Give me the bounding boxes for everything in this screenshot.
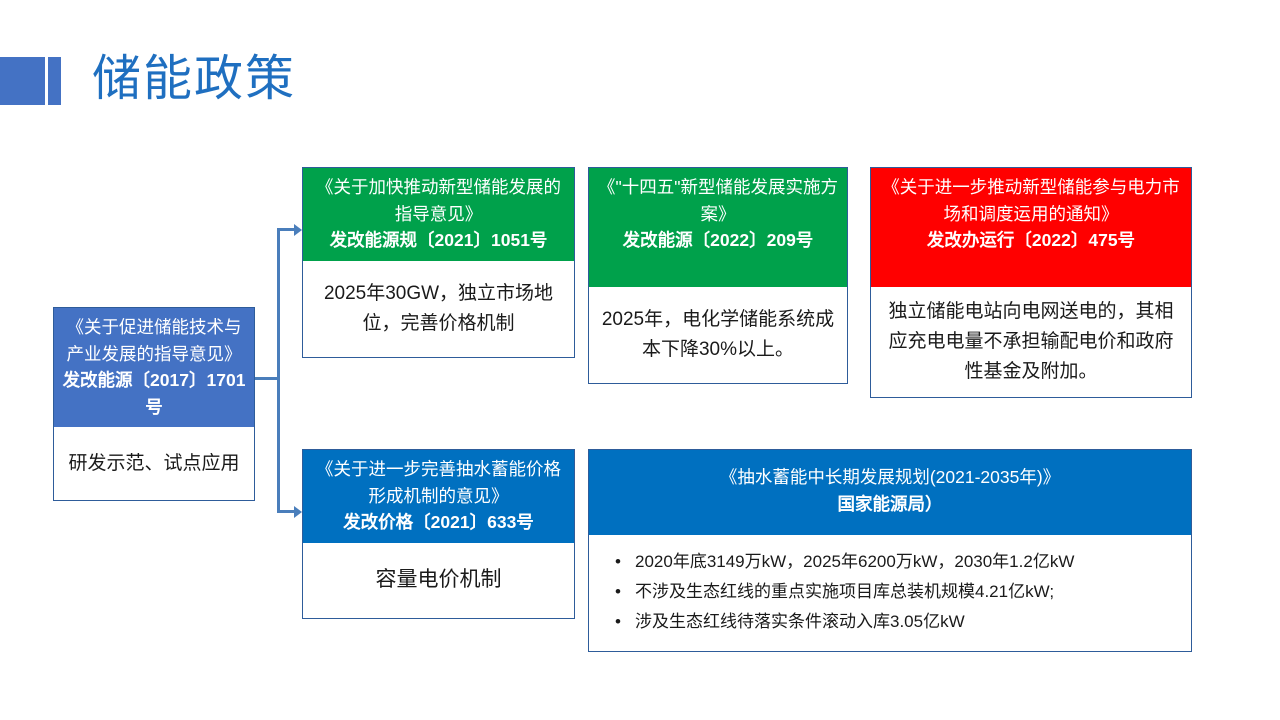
card-policy-5-doc-no: 国家能源局） <box>597 491 1183 518</box>
card-policy-3-body-text: 独立储能电站向电网送电的，其相应充电电量不承担输配电价和政府性基金及附加。 <box>881 297 1181 387</box>
card-policy-4-title: 《关于进一步完善抽水蓄能价格形成机制的意见》 <box>311 456 566 509</box>
page-title: 储能政策 <box>92 48 296 110</box>
card-policy-2-body-text: 2025年，电化学储能系统成本下降30%以上。 <box>599 305 837 365</box>
card-policy-4-doc-no: 发改价格〔2021〕633号 <box>311 509 566 536</box>
card-root-body-text: 研发示范、试点应用 <box>68 449 239 478</box>
card-policy-4-header: 《关于进一步完善抽水蓄能价格形成机制的意见》 发改价格〔2021〕633号 <box>302 449 575 543</box>
connector-vertical-trunk <box>277 228 280 513</box>
card-policy-2-doc-no: 发改能源〔2022〕209号 <box>597 227 839 254</box>
slide-canvas: 储能政策 《关于促进储能技术与产业发展的指导意见》 发改能源〔2017〕1701… <box>0 0 1280 720</box>
card-root-body: 研发示范、试点应用 <box>53 427 255 501</box>
list-item: 2020年底3149万kW，2025年6200万kW，2030年1.2亿kW <box>635 547 1173 577</box>
card-root-doc-no: 发改能源〔2017〕1701号 <box>62 367 246 420</box>
card-policy-4: 《关于进一步完善抽水蓄能价格形成机制的意见》 发改价格〔2021〕633号 容量… <box>302 449 575 619</box>
card-policy-1-title: 《关于加快推动新型储能发展的指导意见》 <box>311 174 566 227</box>
card-policy-3-doc-no: 发改办运行〔2022〕475号 <box>879 227 1183 254</box>
card-policy-2-body: 2025年，电化学储能系统成本下降30%以上。 <box>588 287 848 384</box>
card-policy-4-body-text: 容量电价机制 <box>376 565 502 595</box>
list-item: 涉及生态红线待落实条件滚动入库3.05亿kW <box>635 607 1173 637</box>
list-item: 不涉及生态红线的重点实施项目库总装机规模4.21亿kW; <box>635 577 1173 607</box>
card-policy-3-title: 《关于进一步推动新型储能参与电力市场和调度运用的通知》 <box>879 174 1183 227</box>
title-accent-bar-thin <box>48 57 61 105</box>
title-accent-bar-wide <box>0 57 45 105</box>
card-policy-5-bullet-list: 2020年底3149万kW，2025年6200万kW，2030年1.2亿kW 不… <box>615 547 1173 637</box>
card-policy-1-body-text: 2025年30GW，独立市场地位，完善价格机制 <box>313 279 564 339</box>
card-root-title: 《关于促进储能技术与产业发展的指导意见》 <box>62 314 246 367</box>
card-policy-3-header: 《关于进一步推动新型储能参与电力市场和调度运用的通知》 发改办运行〔2022〕4… <box>870 167 1192 287</box>
card-policy-1: 《关于加快推动新型储能发展的指导意见》 发改能源规〔2021〕1051号 202… <box>302 167 575 358</box>
card-policy-1-doc-no: 发改能源规〔2021〕1051号 <box>311 227 566 254</box>
card-policy-1-body: 2025年30GW，独立市场地位，完善价格机制 <box>302 261 575 358</box>
card-root-policy: 《关于促进储能技术与产业发展的指导意见》 发改能源〔2017〕1701号 研发示… <box>53 307 255 501</box>
arrow-head-top-icon <box>294 224 302 236</box>
card-policy-3: 《关于进一步推动新型储能参与电力市场和调度运用的通知》 发改办运行〔2022〕4… <box>870 167 1192 398</box>
card-policy-2-header: 《"十四五"新型储能发展实施方案》 发改能源〔2022〕209号 <box>588 167 848 287</box>
card-policy-5-title: 《抽水蓄能中长期发展规划(2021-2035年)》 <box>597 464 1183 491</box>
card-policy-5-body: 2020年底3149万kW，2025年6200万kW，2030年1.2亿kW 不… <box>588 535 1192 652</box>
card-policy-2: 《"十四五"新型储能发展实施方案》 发改能源〔2022〕209号 2025年，电… <box>588 167 848 384</box>
arrow-head-bottom-icon <box>294 506 302 518</box>
card-policy-1-header: 《关于加快推动新型储能发展的指导意见》 发改能源规〔2021〕1051号 <box>302 167 575 261</box>
card-policy-4-body: 容量电价机制 <box>302 543 575 619</box>
card-policy-5: 《抽水蓄能中长期发展规划(2021-2035年)》 国家能源局） 2020年底3… <box>588 449 1192 652</box>
card-policy-3-body: 独立储能电站向电网送电的，其相应充电电量不承担输配电价和政府性基金及附加。 <box>870 287 1192 398</box>
card-policy-5-header: 《抽水蓄能中长期发展规划(2021-2035年)》 国家能源局） <box>588 449 1192 535</box>
card-root-header: 《关于促进储能技术与产业发展的指导意见》 发改能源〔2017〕1701号 <box>53 307 255 427</box>
card-policy-2-title: 《"十四五"新型储能发展实施方案》 <box>597 174 839 227</box>
